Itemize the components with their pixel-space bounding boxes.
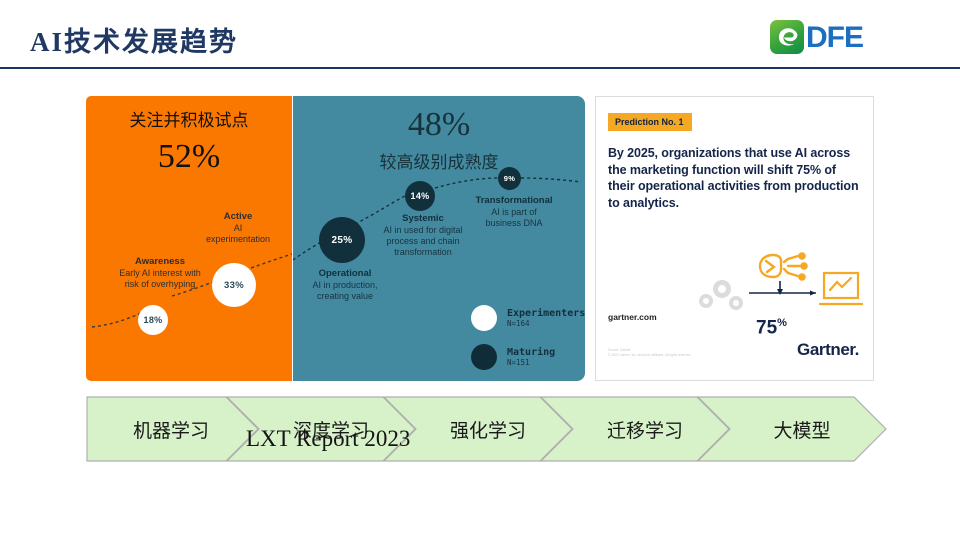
orange-cn-heading: 关注并积极试点 [86,106,292,131]
panel-maturing: 48% 较高级别成熟度 25% Operational AI in produc… [293,96,585,381]
label-transformational: Transformational AI is part of business … [461,195,567,229]
analytics-laptop-icon [820,273,862,304]
legend-item-maturing: Maturing N=151 [471,344,585,370]
brand-logo: DFE [770,19,914,55]
prediction-headline: By 2025, organizations that use AI acros… [608,145,861,211]
label-operational-name: Operational [293,268,397,280]
legend-experimenters-label: Experimenters [507,308,585,320]
gears-icon [699,280,743,310]
teal-big-value: 48% [293,106,585,144]
bubble-awareness-value: 18% [144,315,163,325]
legend-maturing-count: N=151 [507,358,555,367]
bubble-awareness: 18% [138,305,168,335]
chevron-label-5[interactable]: 大模型 [717,396,887,462]
label-awareness: Awareness Early AI interest with risk of… [100,256,220,290]
label-active: Active AI experimentation [190,211,286,245]
prediction-stat: 75% [756,317,787,339]
bubble-transformational-value: 9% [504,174,515,183]
bubble-operational: 25% [319,217,365,263]
slide-canvas: AI技术发展趋势 DFE 关注并积极试点 52% 18% [0,0,960,540]
chevron-label-4[interactable]: 迁移学习 [560,396,730,462]
legend-swatch-white-icon [471,305,497,331]
label-active-name: Active [190,211,286,223]
label-operational: Operational AI in production, creating v… [293,268,397,302]
bubble-systemic-value: 14% [411,191,430,201]
ai-brain-icon [760,253,807,279]
infographic-panels: 关注并积极试点 52% 18% Awareness Early AI inter… [86,96,874,381]
chevron-label-3[interactable]: 强化学习 [403,396,573,462]
prediction-stat-value: 75 [756,317,777,338]
page-title: AI技术发展趋势 [30,20,238,59]
label-transformational-desc: AI is part of business DNA [461,207,567,230]
bubble-active-value: 33% [224,280,244,291]
label-active-desc: AI experimentation [190,223,286,246]
header-divider [0,67,960,69]
e-swirl-logo-icon [770,20,804,54]
bubble-active: 33% [212,263,256,307]
logo-wordmark: DFE [806,20,914,54]
label-transformational-name: Transformational [461,195,567,207]
maturity-legend: Experimenters N=164 Maturing N=151 [471,305,585,381]
prediction-badge: Prediction No. 1 [608,113,692,131]
label-systemic-desc: AI in used for digital process and chain… [367,225,479,259]
gartner-source-note: Source: Gartner © 2023 Gartner, Inc. and… [608,348,758,358]
flow-arrows-icon [749,281,816,296]
slide-header: AI技术发展趋势 DFE [0,0,960,68]
label-operational-desc: AI in production, creating value [293,280,397,303]
gartner-wordmark: Gartner. [797,340,859,360]
legend-maturing-label: Maturing [507,347,555,359]
label-awareness-desc: Early AI interest with risk of overhypin… [100,268,220,291]
bubble-systemic: 14% [405,181,435,211]
chevron-label-1[interactable]: 机器学习 [86,396,256,462]
panel-experimenters: 关注并积极试点 52% 18% Awareness Early AI inter… [86,96,292,381]
bubble-transformational: 9% [498,167,521,190]
orange-big-value: 52% [86,138,292,176]
report-caption: LXT Report 2023 [246,426,410,452]
process-chevron-bar: 机器学习 深度学习 强化学习 迁移学习 大模型 [86,396,894,462]
svg-text:DFE: DFE [806,21,863,54]
legend-item-experimenters: Experimenters N=164 [471,305,585,331]
prediction-stat-suffix: % [777,317,787,329]
gartner-url: gartner.com [608,312,657,322]
teal-cn-heading: 较高级别成熟度 [293,148,585,173]
panel-gartner-prediction: Prediction No. 1 By 2025, organizations … [595,96,874,381]
bubble-operational-value: 25% [332,235,353,246]
label-awareness-name: Awareness [100,256,220,268]
legend-experimenters-count: N=164 [507,319,585,328]
legend-swatch-dark-icon [471,344,497,370]
